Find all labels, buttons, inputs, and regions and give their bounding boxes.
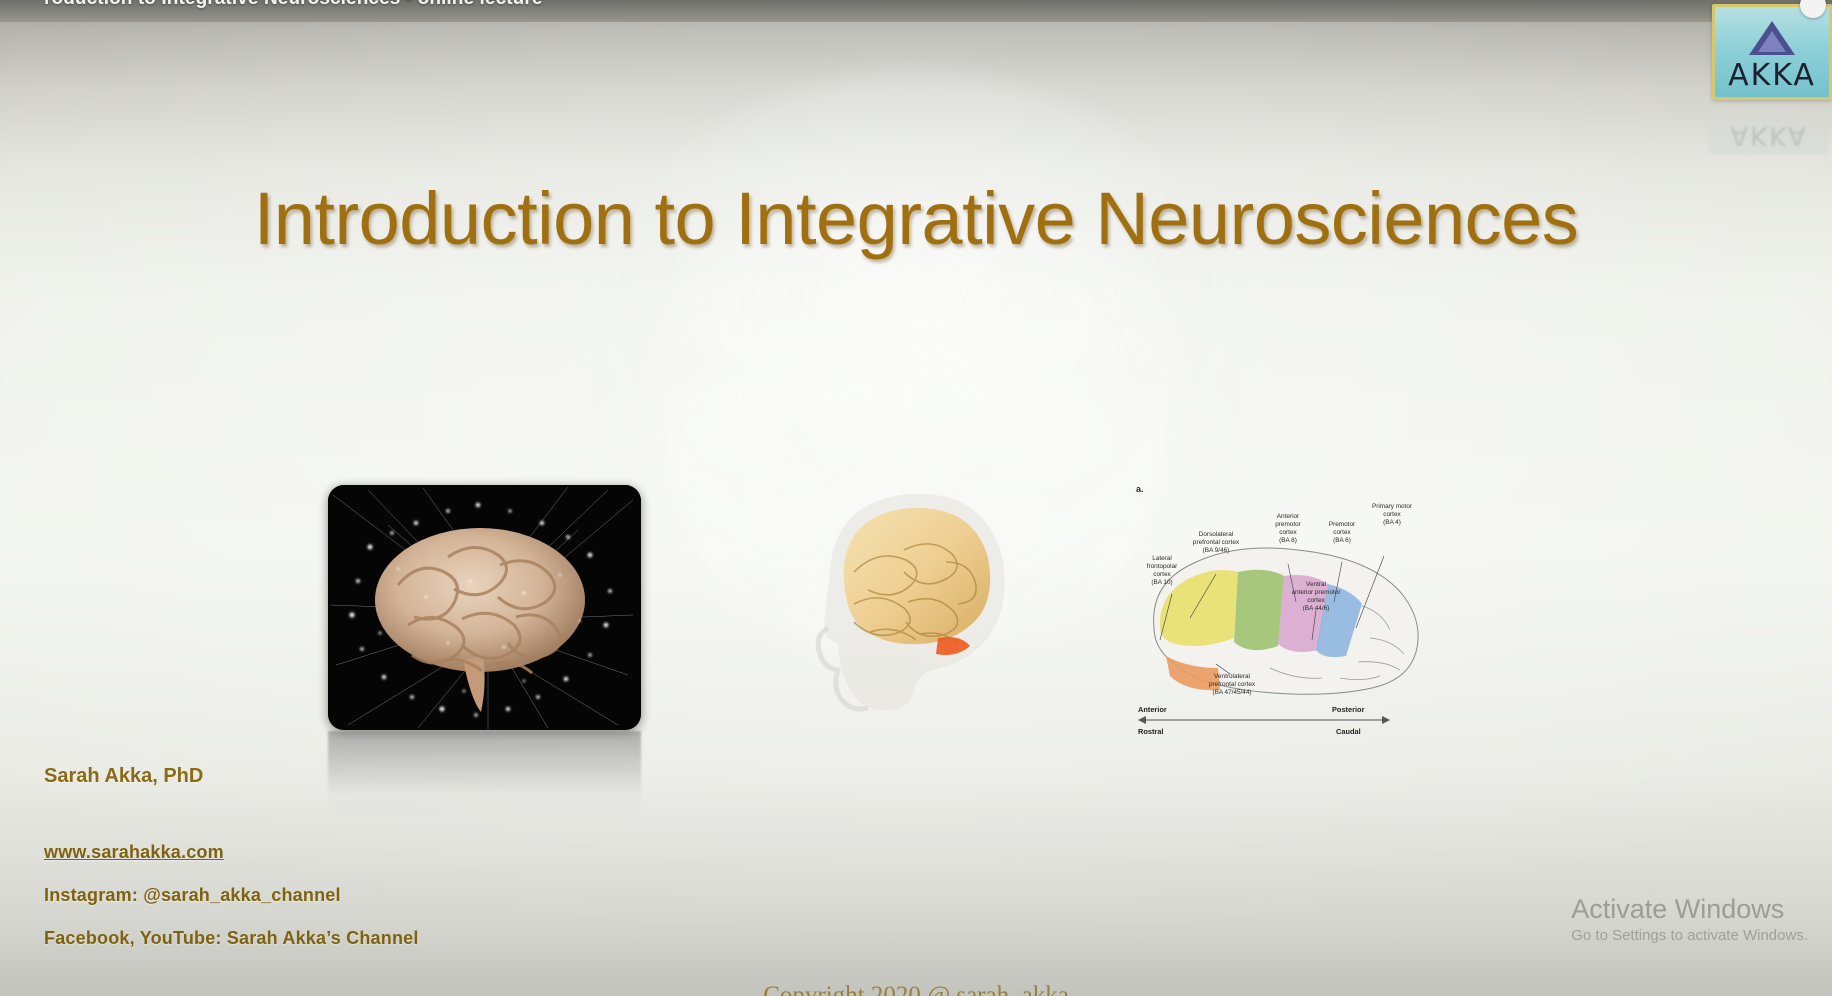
svg-text:cortex: cortex [1333, 529, 1351, 536]
svg-text:premotor: premotor [1275, 521, 1301, 528]
svg-text:Lateral: Lateral [1152, 555, 1172, 562]
svg-text:Anterior: Anterior [1138, 705, 1167, 714]
logo-card: AKKA [1712, 4, 1832, 100]
svg-text:(BA 4): (BA 4) [1383, 519, 1401, 526]
prefrontal-cortex-diagram-image: .lbl{ font-family:"Liberation Sans", san… [1120, 478, 1430, 748]
svg-text:Caudal: Caudal [1336, 727, 1361, 736]
svg-text:Dorsolateral: Dorsolateral [1199, 531, 1233, 538]
website-link[interactable]: www.sarahakka.com [44, 842, 419, 863]
facebook-youtube-handle: Facebook, YouTube: Sarah Akka’s Channel [44, 928, 419, 949]
svg-text:Primary motor: Primary motor [1372, 503, 1413, 510]
activate-windows-title: Activate Windows [1571, 894, 1808, 925]
svg-text:Rostral: Rostral [1138, 727, 1163, 736]
svg-text:cortex: cortex [1383, 511, 1401, 518]
svg-text:cortex: cortex [1307, 597, 1325, 604]
logo-reflection-text: AKKA [1709, 120, 1829, 154]
svg-text:a.: a. [1136, 484, 1144, 494]
svg-text:frontopolar: frontopolar [1147, 563, 1178, 570]
svg-text:(BA 44/6): (BA 44/6) [1303, 605, 1330, 612]
svg-text:(BA 10): (BA 10) [1151, 579, 1172, 586]
contact-list: www.sarahakka.com Instagram: @sarah_akka… [44, 842, 419, 949]
logo-reflection: AKKA [1709, 108, 1829, 154]
svg-text:(BA 8): (BA 8) [1279, 537, 1297, 544]
head-profile-brain-image [770, 480, 1020, 730]
svg-text:cortex: cortex [1153, 571, 1171, 578]
page-title: Introduction to Integrative Neuroscience… [0, 176, 1832, 261]
presenter-name: Sarah Akka, PhD [44, 765, 203, 788]
svg-text:Ventrolateral: Ventrolateral [1214, 673, 1250, 680]
brain-image-reflection [328, 731, 641, 823]
svg-text:prefrontal cortex: prefrontal cortex [1209, 681, 1256, 688]
window-title-text: roduction to Integrative Neurosciences -… [44, 0, 543, 10]
logo-brand-text: AKKA [1715, 58, 1829, 93]
svg-text:(BA 47/45/44): (BA 47/45/44) [1212, 689, 1251, 696]
window-title-bar: roduction to Integrative Neurosciences -… [0, 0, 1832, 22]
svg-text:(BA 9/46): (BA 9/46) [1203, 547, 1230, 554]
akka-logo: AKKA AKKA [1712, 4, 1832, 100]
svg-text:Premotor: Premotor [1329, 521, 1356, 528]
svg-text:prefrontal cortex: prefrontal cortex [1193, 539, 1240, 546]
svg-text:Anterior: Anterior [1277, 513, 1300, 520]
brain-neural-network-image [328, 485, 641, 730]
svg-text:(BA 6): (BA 6) [1333, 537, 1351, 544]
svg-text:Ventral: Ventral [1306, 581, 1326, 588]
instagram-handle: Instagram: @sarah_akka_channel [44, 885, 419, 906]
svg-text:cortex: cortex [1279, 529, 1297, 536]
svg-text:Posterior: Posterior [1332, 705, 1365, 714]
svg-text:anterior premotor: anterior premotor [1291, 589, 1341, 596]
activate-windows-watermark: Activate Windows Go to Settings to activ… [1571, 894, 1808, 944]
copyright-notice: Copyright 2020 @ sarah_akka [0, 982, 1832, 996]
triangle-inner-icon [1758, 31, 1786, 52]
activate-windows-subtitle: Go to Settings to activate Windows. [1571, 927, 1808, 944]
presentation-screen: .lbl{ font-family:"Liberation Sans", san… [0, 0, 1832, 996]
